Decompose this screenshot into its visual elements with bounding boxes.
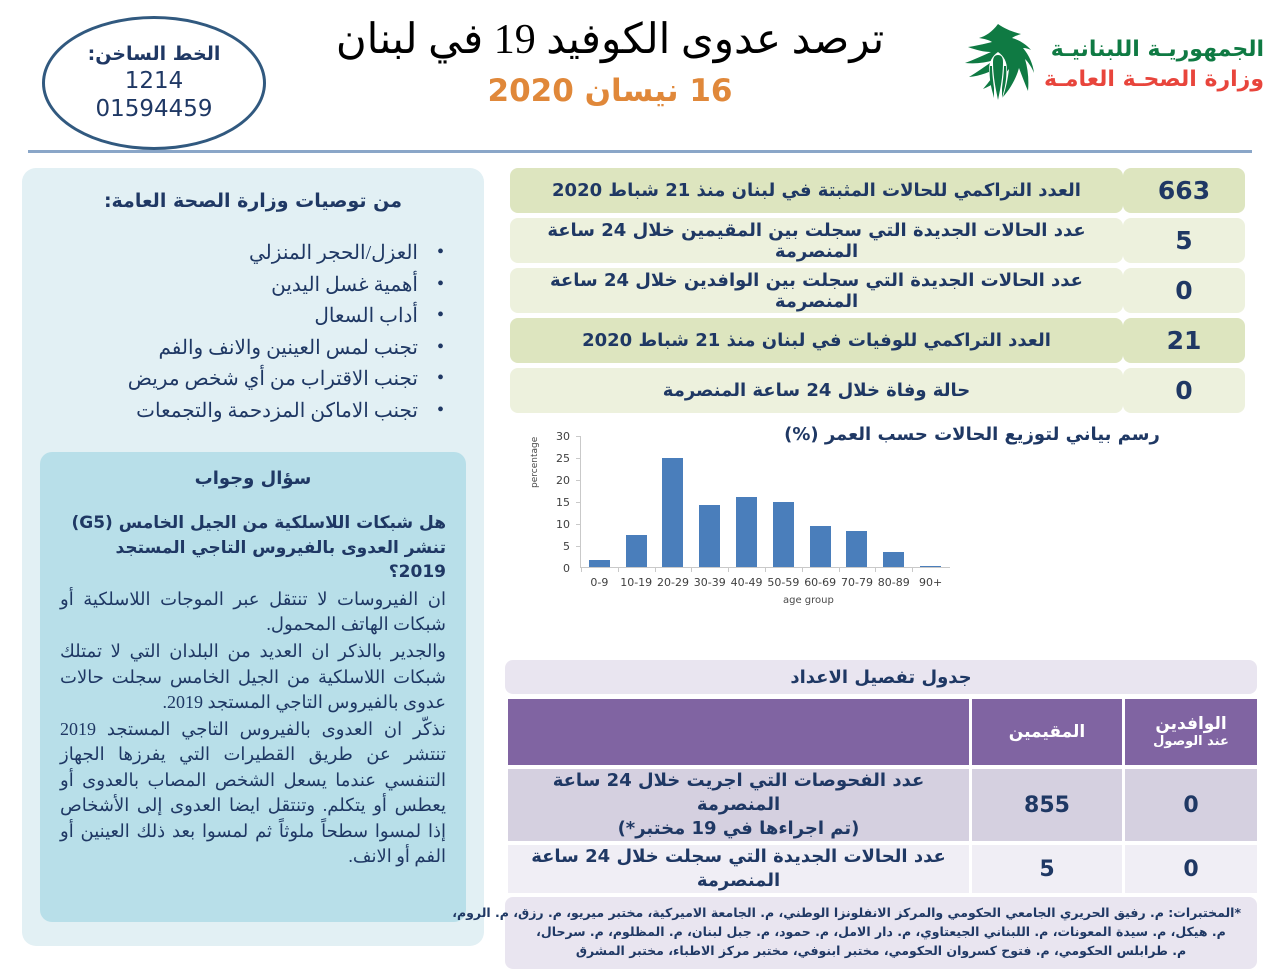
cedar-tree-icon bbox=[962, 22, 1034, 108]
y-tick-label: 0 bbox=[544, 562, 570, 575]
stat-label: عدد الحالات الجديدة التي سجلت بين المقيم… bbox=[510, 218, 1123, 263]
cell-description-line: (تم اجراءها في 19 مختبر*) bbox=[524, 817, 953, 841]
column-header-residents-label: المقيمين bbox=[1009, 722, 1085, 742]
bar-group: 10-19 bbox=[618, 435, 655, 567]
list-item: تجنب الاماكن المزدحمة والتجمعات bbox=[48, 396, 444, 428]
bar-group: 80-89 bbox=[875, 435, 912, 567]
cell-description: عدد الحالات الجديدة التي سجلت خلال 24 سا… bbox=[508, 845, 969, 893]
bar-group: 60-69 bbox=[802, 435, 839, 567]
y-tick-label: 15 bbox=[544, 496, 570, 509]
chart-plot-area: percentage 30 25 20 15 10 5 0 0-9 10-19 … bbox=[528, 436, 953, 602]
bar bbox=[846, 531, 867, 567]
stat-row: 0 حالة وفاة خلال 24 ساعة المنصرمة bbox=[510, 368, 1252, 413]
bar-group: 20-29 bbox=[655, 435, 692, 567]
chart-x-axis-label: age group bbox=[783, 595, 834, 606]
table-header-row: الوافدين عند الوصول المقيمين bbox=[505, 699, 1257, 765]
hotline-label: الخط الساخن: bbox=[88, 43, 221, 66]
qa-question: هل شبكات اللاسلكية من الجيل الخامس (G5) … bbox=[60, 511, 446, 585]
list-item: تجنب لمس العينين والانف والفم bbox=[48, 333, 444, 365]
x-tick-label: 30-39 bbox=[694, 576, 726, 589]
bar-group: 90+ bbox=[912, 435, 949, 567]
stat-value: 0 bbox=[1123, 268, 1245, 313]
stat-value: 21 bbox=[1123, 318, 1245, 363]
stat-row: 0 عدد الحالات الجديدة التي سجلت بين الوا… bbox=[510, 268, 1252, 313]
bar-group: 30-39 bbox=[691, 435, 728, 567]
cell-description-line: عدد الفحوصات التي اجريت خلال 24 ساعة الم… bbox=[524, 769, 953, 818]
labs-note-line: *المختبرات: م. رفيق الحريري الجامعي الحك… bbox=[521, 904, 1241, 923]
y-tick-label: 5 bbox=[544, 540, 570, 553]
column-header-arrivals-label: الوافدين bbox=[1155, 714, 1226, 734]
age-distribution-chart: رسم بياني لتوزيع الحالات حسب العمر (%) p… bbox=[510, 424, 1252, 642]
stat-value: 0 bbox=[1123, 368, 1245, 413]
stat-row: 5 عدد الحالات الجديدة التي سجلت بين المق… bbox=[510, 218, 1252, 263]
ministry-logo: الجمهوريـة اللبنانيـة وزارة الصحـة العام… bbox=[962, 22, 1264, 108]
qa-answer-paragraph: والجدير بالذكر ان العديد من البلدان التي… bbox=[60, 639, 446, 716]
bar bbox=[589, 560, 610, 567]
y-tick-label: 20 bbox=[544, 474, 570, 487]
x-tick-label: 0-9 bbox=[590, 576, 608, 589]
y-tick-label: 25 bbox=[544, 452, 570, 465]
stat-value: 663 bbox=[1123, 168, 1245, 213]
bar-group: 50-59 bbox=[765, 435, 802, 567]
stat-label: العدد التراكمي للحالات المثبتة في لبنان … bbox=[510, 168, 1123, 213]
x-tick-label: 80-89 bbox=[878, 576, 910, 589]
statistics-panel: 663 العدد التراكمي للحالات المثبتة في لب… bbox=[510, 168, 1252, 418]
column-header-arrivals: الوافدين عند الوصول bbox=[1125, 699, 1257, 765]
labs-note-line: م. هيكل، م. سيدة المعونات، م. اللبناني ا… bbox=[521, 923, 1241, 942]
stat-label: حالة وفاة خلال 24 ساعة المنصرمة bbox=[510, 368, 1123, 413]
hotline-number-primary: 1214 bbox=[125, 67, 184, 95]
bar bbox=[773, 502, 794, 567]
bar bbox=[662, 458, 683, 567]
recommendations-title: من توصيات وزارة الصحة العامة: bbox=[48, 190, 458, 212]
list-item: أداب السعال bbox=[48, 301, 444, 333]
stat-label: العدد التراكمي للوفيات في لبنان منذ 21 ش… bbox=[510, 318, 1123, 363]
table-row: 0 5 عدد الحالات الجديدة التي سجلت خلال 2… bbox=[505, 845, 1257, 893]
list-item: العزل/الحجر المنزلي bbox=[48, 238, 444, 270]
bar bbox=[883, 552, 904, 567]
stat-row: 21 العدد التراكمي للوفيات في لبنان منذ 2… bbox=[510, 318, 1252, 363]
list-item: أهمية غسل اليدين bbox=[48, 270, 444, 302]
recommendations-section: من توصيات وزارة الصحة العامة: العزل/الحج… bbox=[22, 168, 484, 428]
bar bbox=[699, 505, 720, 567]
cell-residents: 855 bbox=[972, 769, 1122, 841]
y-tick-label: 30 bbox=[544, 430, 570, 443]
x-tick-label: 60-69 bbox=[804, 576, 836, 589]
column-header-arrivals-sublabel: عند الوصول bbox=[1153, 734, 1229, 750]
cell-arrivals: 0 bbox=[1125, 845, 1257, 893]
republic-label: الجمهوريـة اللبنانيـة bbox=[1044, 35, 1264, 65]
cell-description: عدد الفحوصات التي اجريت خلال 24 ساعة الم… bbox=[508, 769, 969, 841]
bar bbox=[736, 497, 757, 567]
recommendations-list: العزل/الحجر المنزلي أهمية غسل اليدين أدا… bbox=[48, 238, 458, 428]
bar-group: 40-49 bbox=[728, 435, 765, 567]
stat-label: عدد الحالات الجديدة التي سجلت بين الوافد… bbox=[510, 268, 1123, 313]
sidebar-panel: من توصيات وزارة الصحة العامة: العزل/الحج… bbox=[22, 168, 484, 946]
page-header: الخط الساخن: 1214 01594459 ترصد عدوى الك… bbox=[0, 0, 1280, 152]
table-row: 0 855 عدد الفحوصات التي اجريت خلال 24 سا… bbox=[505, 769, 1257, 841]
page-title: ترصد عدوى الكوفيد 19 في لبنان bbox=[310, 14, 910, 67]
bar bbox=[920, 566, 941, 567]
labs-note-line: م. طرابلس الحكومي، م. فتوح كسروان الحكوم… bbox=[521, 942, 1241, 961]
bar-group: 70-79 bbox=[839, 435, 876, 567]
qa-section: سؤال وجواب هل شبكات اللاسلكية من الجيل ا… bbox=[40, 452, 466, 922]
qa-answer-paragraph: ان الفيروسات لا تنتقل عبر الموجات اللاسل… bbox=[60, 587, 446, 638]
cell-arrivals: 0 bbox=[1125, 769, 1257, 841]
chart-bars: 0-9 10-19 20-29 30-39 40-49 50-59 60-69 … bbox=[581, 435, 949, 567]
list-item: تجنب الاقتراب من أي شخص مريض bbox=[48, 364, 444, 396]
stat-value: 5 bbox=[1123, 218, 1245, 263]
table-banner: جدول تفصيل الاعداد bbox=[505, 660, 1257, 694]
ministry-label: وزارة الصحـة العامـة bbox=[1044, 65, 1264, 95]
qa-answer-paragraph: نذكّر ان العدوى بالفيروس التاجي المستجد … bbox=[60, 717, 446, 870]
x-tick-label: 10-19 bbox=[620, 576, 652, 589]
x-tick-label: 90+ bbox=[919, 576, 942, 589]
cell-residents: 5 bbox=[972, 845, 1122, 893]
x-tick-label: 50-59 bbox=[767, 576, 799, 589]
laboratories-footnote: *المختبرات: م. رفيق الحريري الجامعي الحك… bbox=[505, 897, 1257, 969]
hotline-badge: الخط الساخن: 1214 01594459 bbox=[42, 16, 266, 150]
x-tick-label: 40-49 bbox=[731, 576, 763, 589]
bar bbox=[810, 526, 831, 567]
title-block: ترصد عدوى الكوفيد 19 في لبنان 16 نيسان 2… bbox=[310, 14, 910, 109]
column-header-residents: المقيمين bbox=[972, 699, 1122, 765]
report-date: 16 نيسان 2020 bbox=[310, 73, 910, 109]
y-tick-label: 10 bbox=[544, 518, 570, 531]
x-tick-label: 20-29 bbox=[657, 576, 689, 589]
hotline-number-secondary: 01594459 bbox=[95, 95, 212, 123]
qa-title: سؤال وجواب bbox=[60, 468, 446, 489]
x-tick-label: 70-79 bbox=[841, 576, 873, 589]
stat-row: 663 العدد التراكمي للحالات المثبتة في لب… bbox=[510, 168, 1252, 213]
column-header-description bbox=[508, 699, 969, 765]
details-table-section: جدول تفصيل الاعداد الوافدين عند الوصول ا… bbox=[505, 660, 1257, 969]
chart-y-axis-label: percentage bbox=[530, 437, 540, 488]
bar bbox=[626, 535, 647, 567]
bar-group: 0-9 bbox=[581, 435, 618, 567]
ministry-logo-text: الجمهوريـة اللبنانيـة وزارة الصحـة العام… bbox=[1044, 35, 1264, 94]
header-divider bbox=[28, 150, 1252, 153]
